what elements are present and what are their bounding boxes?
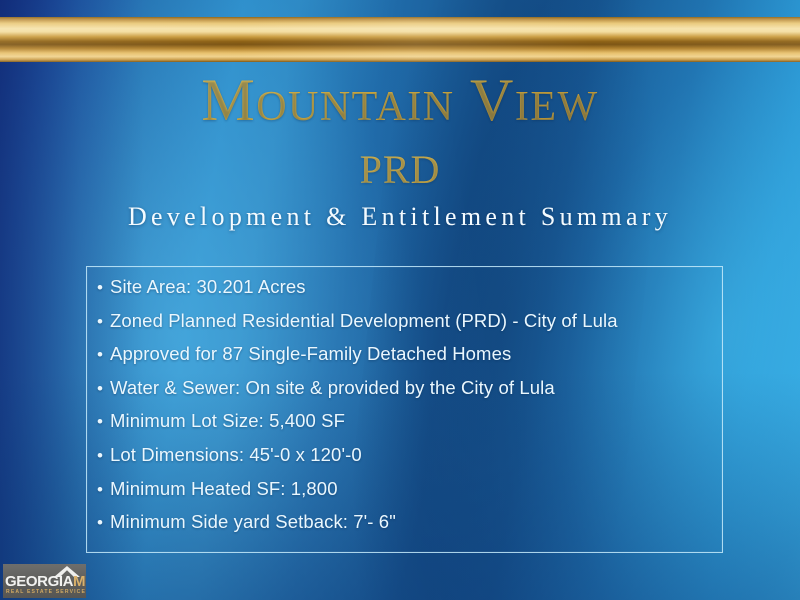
bullet-marker-icon: •: [97, 447, 110, 464]
logo-wordmark: GEORGIAMLS: [5, 574, 84, 589]
summary-bullet-label: Zoned Planned Residential Development (P…: [110, 310, 618, 332]
summary-bullet-item: •Site Area: 30.201 Acres: [97, 276, 716, 310]
summary-bullet-label: Approved for 87 Single-Family Detached H…: [110, 343, 511, 365]
georgia-mls-logo: GEORGIAMLS REAL ESTATE SERVICES: [3, 564, 86, 598]
summary-bullet-label: Site Area: 30.201 Acres: [110, 276, 306, 298]
bullet-marker-icon: •: [97, 380, 110, 397]
summary-bullet-item: •Approved for 87 Single-Family Detached …: [97, 343, 716, 377]
gold-accent-band: [0, 17, 800, 62]
summary-bullet-label: Minimum Heated SF: 1,800: [110, 478, 338, 500]
summary-bullet-item: •Zoned Planned Residential Development (…: [97, 310, 716, 344]
bullet-marker-icon: •: [97, 346, 110, 363]
logo-primary-text: GEORGIA: [5, 573, 73, 590]
logo-tagline: REAL ESTATE SERVICES: [6, 589, 84, 595]
summary-bullet-item: •Lot Dimensions: 45'-0 x 120'-0: [97, 444, 716, 478]
logo-secondary-text: MLS: [73, 573, 86, 590]
summary-bullet-label: Minimum Side yard Setback: 7'- 6": [110, 511, 396, 533]
summary-bullet-label: Water & Sewer: On site & provided by the…: [110, 377, 555, 399]
page-title: Mountain View: [0, 70, 800, 130]
summary-bullet-item: •Minimum Lot Size: 5,400 SF: [97, 410, 716, 444]
summary-bullet-item: •Water & Sewer: On site & provided by th…: [97, 377, 716, 411]
bullet-marker-icon: •: [97, 514, 110, 531]
bullet-marker-icon: •: [97, 313, 110, 330]
summary-bullet-label: Minimum Lot Size: 5,400 SF: [110, 410, 345, 432]
summary-bullet-item: •Minimum Heated SF: 1,800: [97, 478, 716, 512]
summary-bullet-label: Lot Dimensions: 45'-0 x 120'-0: [110, 444, 362, 466]
summary-bullet-list: •Site Area: 30.201 Acres•Zoned Planned R…: [97, 276, 716, 545]
summary-bullet-item: •Minimum Side yard Setback: 7'- 6": [97, 511, 716, 545]
page-tagline: Development & Entitlement Summary: [0, 202, 800, 232]
page-subtitle: PRD: [0, 150, 800, 190]
summary-panel: •Site Area: 30.201 Acres•Zoned Planned R…: [86, 266, 723, 553]
bullet-marker-icon: •: [97, 413, 110, 430]
bullet-marker-icon: •: [97, 481, 110, 498]
bullet-marker-icon: •: [97, 279, 110, 296]
presentation-slide: Mountain View PRD Development & Entitlem…: [0, 0, 800, 600]
